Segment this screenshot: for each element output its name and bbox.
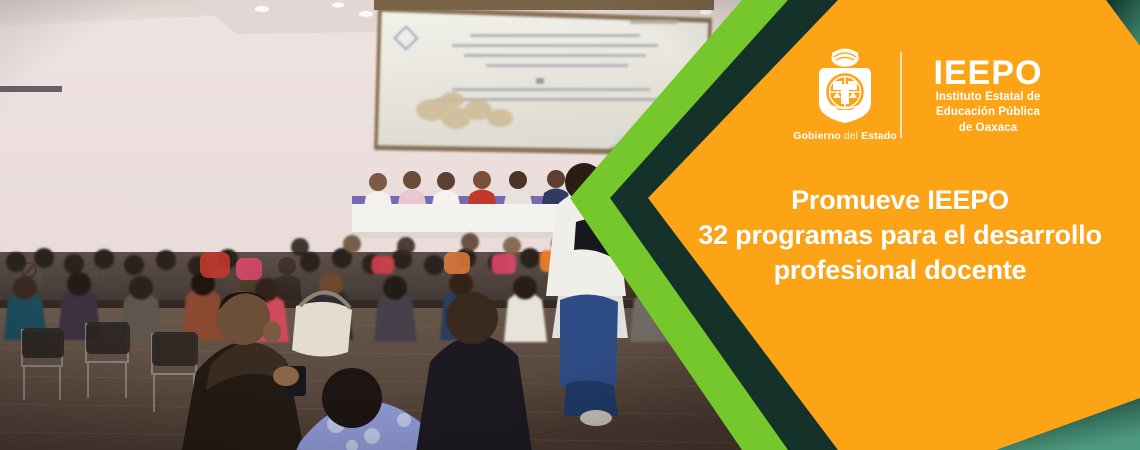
government-crest-block: Gobierno del Estado xyxy=(790,48,900,142)
ieepo-text-block: IEEPO Instituto Estatal de Educación Púb… xyxy=(916,48,1060,136)
ieepo-subtitle-line-3: de Oaxaca xyxy=(916,121,1060,136)
government-label: Gobierno del Estado xyxy=(793,130,896,142)
bottom-right-teal-accent xyxy=(996,398,1140,450)
headline-line-1: Promueve IEEPO xyxy=(676,183,1124,218)
brand-lockup: Gobierno del Estado IEEPO Instituto Esta… xyxy=(790,48,1060,152)
headline-line-3: profesional docente xyxy=(676,253,1124,288)
ieepo-acronym: IEEPO xyxy=(916,56,1060,90)
ieepo-promo-banner: Gobierno del Estado IEEPO Instituto Esta… xyxy=(0,0,1140,450)
oaxaca-state-crest-icon xyxy=(808,48,882,128)
gob-word-2: del xyxy=(844,130,858,142)
vertical-divider-icon xyxy=(900,52,902,138)
ieepo-subtitle-line-1: Instituto Estatal de xyxy=(916,90,1060,105)
top-right-teal-accent xyxy=(1106,0,1140,46)
ieepo-subtitle-line-2: Educación Pública xyxy=(916,105,1060,120)
headline-line-2: 32 programas para el desarrollo xyxy=(676,218,1124,253)
gob-word-1: Gobierno xyxy=(793,130,840,142)
headline: Promueve IEEPO 32 programas para el desa… xyxy=(676,183,1124,288)
gob-word-3: Estado xyxy=(861,130,897,142)
